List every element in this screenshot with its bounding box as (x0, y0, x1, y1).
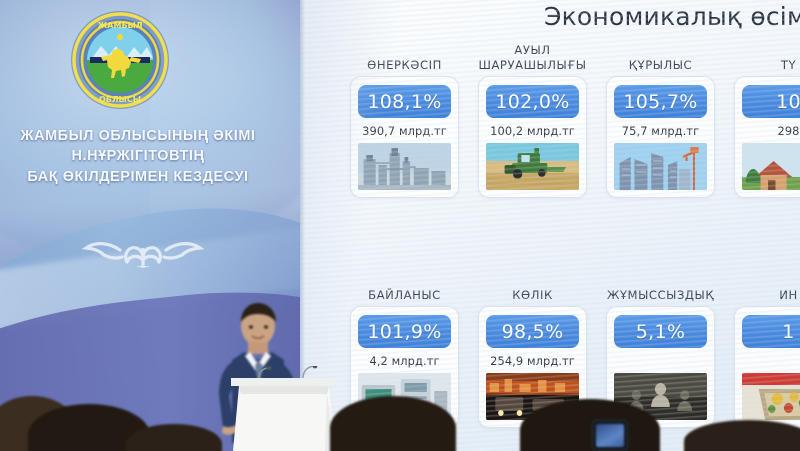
metric-value: 298 (742, 124, 800, 138)
metric-percent-badge: 5,1% (614, 315, 707, 348)
slide-title: Экономикалық өсім (544, 2, 800, 31)
industrial-plant-image (358, 143, 451, 190)
metric-percent-badge: 102,0% (486, 85, 579, 118)
metric-value: 75,7 млрд.тг (614, 124, 707, 138)
metric-label: БАЙЛАНЫС (350, 272, 459, 302)
metric-percent-badge: 98,5% (486, 315, 579, 348)
metric-value (614, 354, 707, 368)
banner-line-3: БАҚ ӨКІЛДЕРІМЕН КЕЗДЕСУІ (0, 167, 300, 187)
metric-label: КӨЛІК (478, 272, 587, 302)
emblem-top-text: ЖАМБЫЛ (98, 21, 143, 30)
banner-line-2: Н.НҰРЖІГІТОВТІҢ (0, 146, 300, 166)
construction-cranes-image (614, 143, 707, 190)
metric-label: ТҮ (734, 42, 800, 72)
metric-label: ЖҰМЫССЫЗДЫҚ (606, 272, 715, 302)
zhambyl-region-emblem-icon: ЖАМБЫЛ ОБЛЫСЫ (68, 8, 172, 112)
housing-cottage-image (742, 143, 800, 190)
metric-card-turgyn-uy[interactable]: ТҮ 10 298 (734, 42, 800, 198)
metric-label: АУЫЛ ШАРУАШЫЛЫҒЫ (478, 42, 587, 72)
kazakh-ornament-icon (58, 220, 228, 268)
metric-percent-badge: 105,7% (614, 85, 707, 118)
white-podium (229, 366, 339, 451)
metric-card-onerkasip[interactable]: ӨНЕРКӘСІП 108,1% 390,7 млрд.тг (350, 42, 459, 198)
metric-card-auyl-sharuashylygy[interactable]: АУЫЛ ШАРУАШЫЛЫҒЫ 102,0% 100,2 млрд.тг (478, 42, 587, 198)
metrics-row-top: ӨНЕРКӘСІП 108,1% 390,7 млрд.тг (350, 42, 800, 198)
audience-head (330, 396, 456, 451)
metric-value (742, 354, 800, 368)
banner-heading: ЖАМБЫЛ ОБЛЫСЫНЫҢ ӘКІМІ Н.НҰРЖІГІТОВТІҢ Б… (0, 126, 300, 187)
audience-phone (592, 420, 628, 451)
metric-percent-badge: 101,9% (358, 315, 451, 348)
metric-value: 390,7 млрд.тг (358, 124, 451, 138)
metric-label: ӨНЕРКӘСІП (350, 42, 459, 72)
metric-value: 100,2 млрд.тг (486, 124, 579, 138)
banner-line-1: ЖАМБЫЛ ОБЛЫСЫНЫҢ ӘКІМІ (0, 126, 300, 146)
emblem-bottom-text: ОБЛЫСЫ (99, 95, 141, 104)
metric-value: 4,2 млрд.тг (358, 354, 451, 368)
combine-harvester-image (486, 143, 579, 190)
metric-label: ИН (734, 272, 800, 302)
metric-percent-badge: 10 (742, 85, 800, 118)
screenshot-stage: ЖАМБЫЛ ОБЛЫСЫ ЖАМБЫЛ ОБЛЫСЫНЫҢ ӘКІМІ Н.Н… (0, 0, 800, 451)
metric-value: 254,9 млрд.тг (486, 354, 579, 368)
metric-card-qurylys[interactable]: ҚҰРЫЛЫС 105,7% 75,7 млрд.тг (606, 42, 715, 198)
led-presentation-screen: Экономикалық өсім ӨНЕРКӘСІП 108,1% 390,7… (300, 0, 800, 451)
metric-card-inflyatsiya[interactable]: ИН 1 (734, 272, 800, 428)
inflation-basket-image (742, 373, 800, 420)
metric-percent-badge: 1 (742, 315, 800, 348)
metric-label: ҚҰРЫЛЫС (606, 42, 715, 72)
metric-percent-badge: 108,1% (358, 85, 451, 118)
